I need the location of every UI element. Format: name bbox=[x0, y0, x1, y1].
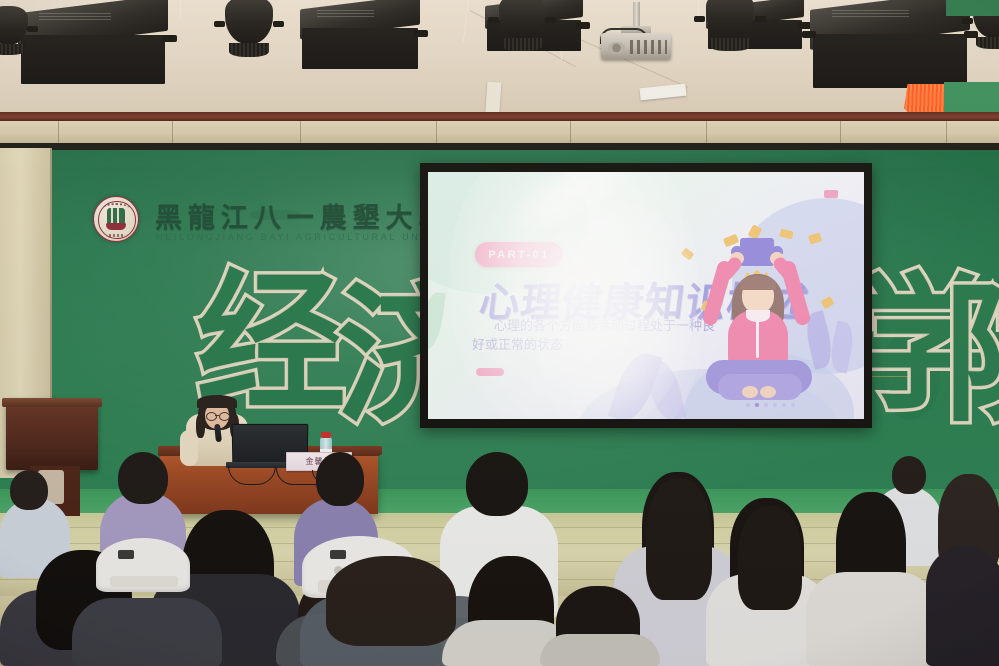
audience-head bbox=[10, 470, 48, 510]
audience-person bbox=[72, 598, 222, 666]
stage-light-box bbox=[300, 2, 420, 68]
projection-screen[interactable]: PART-01 心理健康知识概述 心理的各个方面及活动过程处于一种良 好或正常的… bbox=[428, 172, 864, 419]
audience-hair bbox=[646, 478, 712, 600]
bottle-cap bbox=[321, 432, 331, 438]
presenter-glasses-bridge bbox=[215, 415, 219, 416]
audience-hair bbox=[738, 506, 802, 610]
audience-person bbox=[926, 546, 999, 666]
podium bbox=[6, 398, 98, 470]
ceiling-projector bbox=[598, 2, 674, 64]
audience-person bbox=[540, 634, 660, 666]
slide-accent-bar bbox=[476, 368, 504, 376]
audience-hair bbox=[326, 556, 456, 646]
rig-wire bbox=[180, 0, 181, 20]
university-name-cn: 黑龍江八一農墾大學 bbox=[155, 196, 451, 235]
slide-illustration bbox=[684, 234, 834, 412]
presenter-hair-side bbox=[196, 414, 205, 438]
audience-person bbox=[806, 572, 938, 666]
audience-head bbox=[118, 452, 168, 504]
university-seal bbox=[93, 196, 139, 242]
ceiling-green-edge bbox=[946, 0, 999, 16]
puzzle-piece-icon bbox=[740, 238, 774, 266]
slide-leaf bbox=[428, 291, 446, 351]
presenter-hair-top bbox=[197, 395, 237, 408]
presenter-glasses bbox=[206, 412, 217, 421]
stage-light-box bbox=[18, 4, 168, 82]
cap-strap bbox=[110, 576, 178, 587]
lecture-hall-photo: 黑龍江八一農墾大學 HEILONGJIANG BAYI AGRICULTURAL… bbox=[0, 0, 999, 666]
par-can-light bbox=[0, 6, 34, 56]
projection-screen-frame: PART-01 心理健康知识概述 心理的各个方面及活动过程处于一种良 好或正常的… bbox=[420, 163, 872, 428]
audience-head bbox=[892, 456, 926, 494]
slide-pink-square bbox=[824, 190, 838, 198]
presenter-sleeve bbox=[180, 430, 198, 466]
audience-head bbox=[316, 452, 364, 506]
slide-part-badge: PART-01 bbox=[475, 242, 563, 267]
proscenium-beam bbox=[0, 121, 999, 143]
presenter-glasses bbox=[219, 412, 230, 421]
par-can-light bbox=[218, 0, 280, 58]
slide-pagination-dots[interactable] bbox=[746, 403, 795, 407]
par-can-light bbox=[698, 0, 762, 52]
par-can-light bbox=[492, 0, 552, 52]
wall-calligraphy-4: 院 bbox=[944, 280, 999, 430]
rig-wire bbox=[806, 0, 807, 20]
audience-head bbox=[466, 452, 528, 516]
proscenium-trim bbox=[0, 112, 999, 121]
